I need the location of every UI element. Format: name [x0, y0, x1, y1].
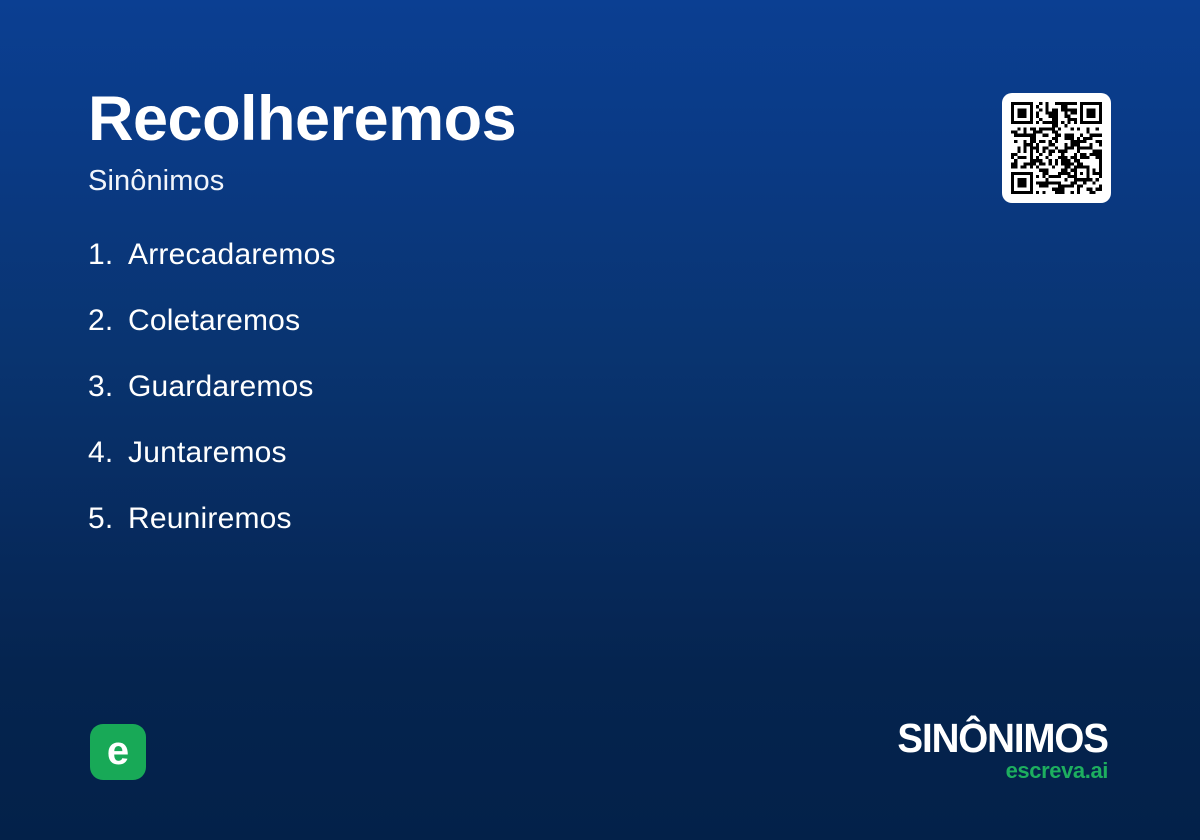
list-item-index: 3. [88, 370, 128, 404]
brand-lockup: SINÔNIMOS escreva.ai [884, 720, 1108, 782]
escreva-app-badge[interactable]: e [90, 724, 146, 780]
list-item-index: 5. [88, 502, 128, 536]
list-item: 5.Reuniremos [88, 502, 848, 568]
synonym-card: Recolheremos Sinônimos 1.Arrecadaremos2.… [0, 0, 1200, 840]
list-item-index: 4. [88, 436, 128, 470]
list-item-label: Juntaremos [128, 436, 287, 470]
list-item: 3.Guardaremos [88, 370, 848, 436]
list-item-index: 2. [88, 304, 128, 338]
qr-code-card[interactable] [1002, 93, 1111, 203]
list-item-index: 1. [88, 238, 128, 272]
list-item: 4.Juntaremos [88, 436, 848, 502]
page-title: Recolheremos [88, 88, 908, 151]
list-item-label: Reuniremos [128, 502, 292, 536]
brand-tagline: escreva.ai [884, 760, 1108, 782]
escreva-e-logo-icon: e [107, 731, 129, 771]
list-item-label: Coletaremos [128, 304, 300, 338]
heading-block: Recolheremos Sinônimos [88, 88, 908, 196]
brand-name: SINÔNIMOS [898, 720, 1108, 758]
qr-code-icon [1011, 102, 1102, 194]
page-subtitle: Sinônimos [88, 167, 908, 196]
synonym-list: 1.Arrecadaremos2.Coletaremos3.Guardaremo… [88, 238, 848, 568]
list-item: 2.Coletaremos [88, 304, 848, 370]
list-item-label: Arrecadaremos [128, 238, 336, 272]
list-item: 1.Arrecadaremos [88, 238, 848, 304]
list-item-label: Guardaremos [128, 370, 314, 404]
